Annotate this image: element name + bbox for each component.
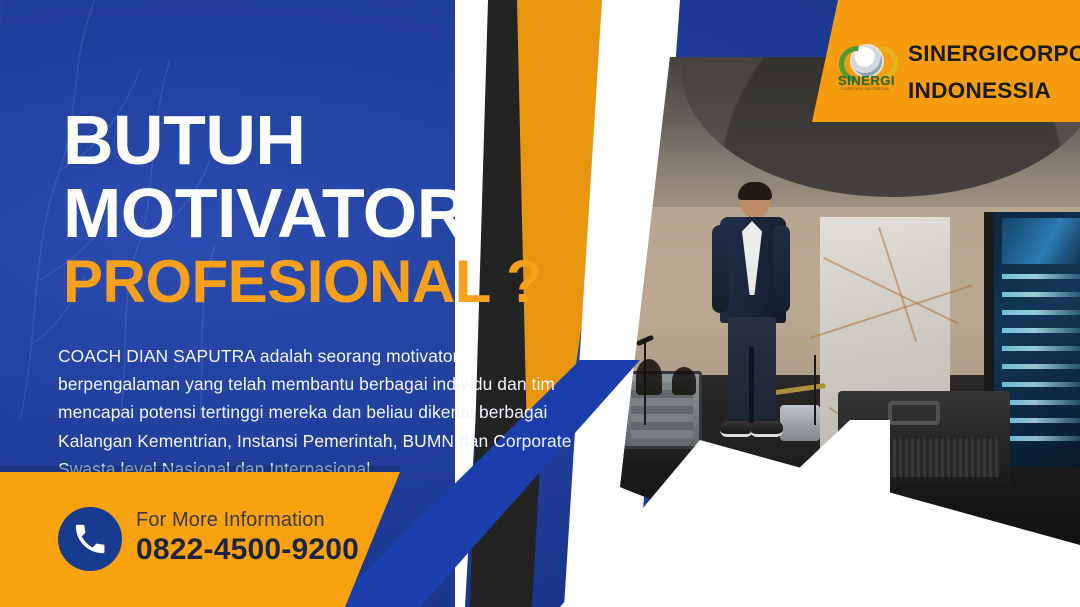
description-paragraph: COACH DIAN SAPUTRA adalah seorang motiva… <box>58 342 578 483</box>
cta-phone-number[interactable]: 0822-4500-9200 <box>136 533 359 567</box>
sinergi-logo: SINERGI CORPORA INDONESIA <box>838 44 892 96</box>
logo-tagline: CORPORA INDONESIA <box>838 86 892 91</box>
company-name-line1: SINERGICORPORA <box>908 41 1080 67</box>
company-name-line2: INDONESSIA <box>908 78 1051 104</box>
phone-icon[interactable] <box>58 507 122 571</box>
headline-line1: BUTUH <box>63 105 305 175</box>
promotional-banner: SINERGI CORPORA INDONESIA SINERGICORPORA… <box>0 0 1080 607</box>
headline-line3: PROFESIONAL ? <box>63 252 542 312</box>
cta-label: For More Information <box>136 509 325 532</box>
headline-line2: MOTIVATOR <box>63 178 467 248</box>
cta-divider <box>0 466 400 473</box>
